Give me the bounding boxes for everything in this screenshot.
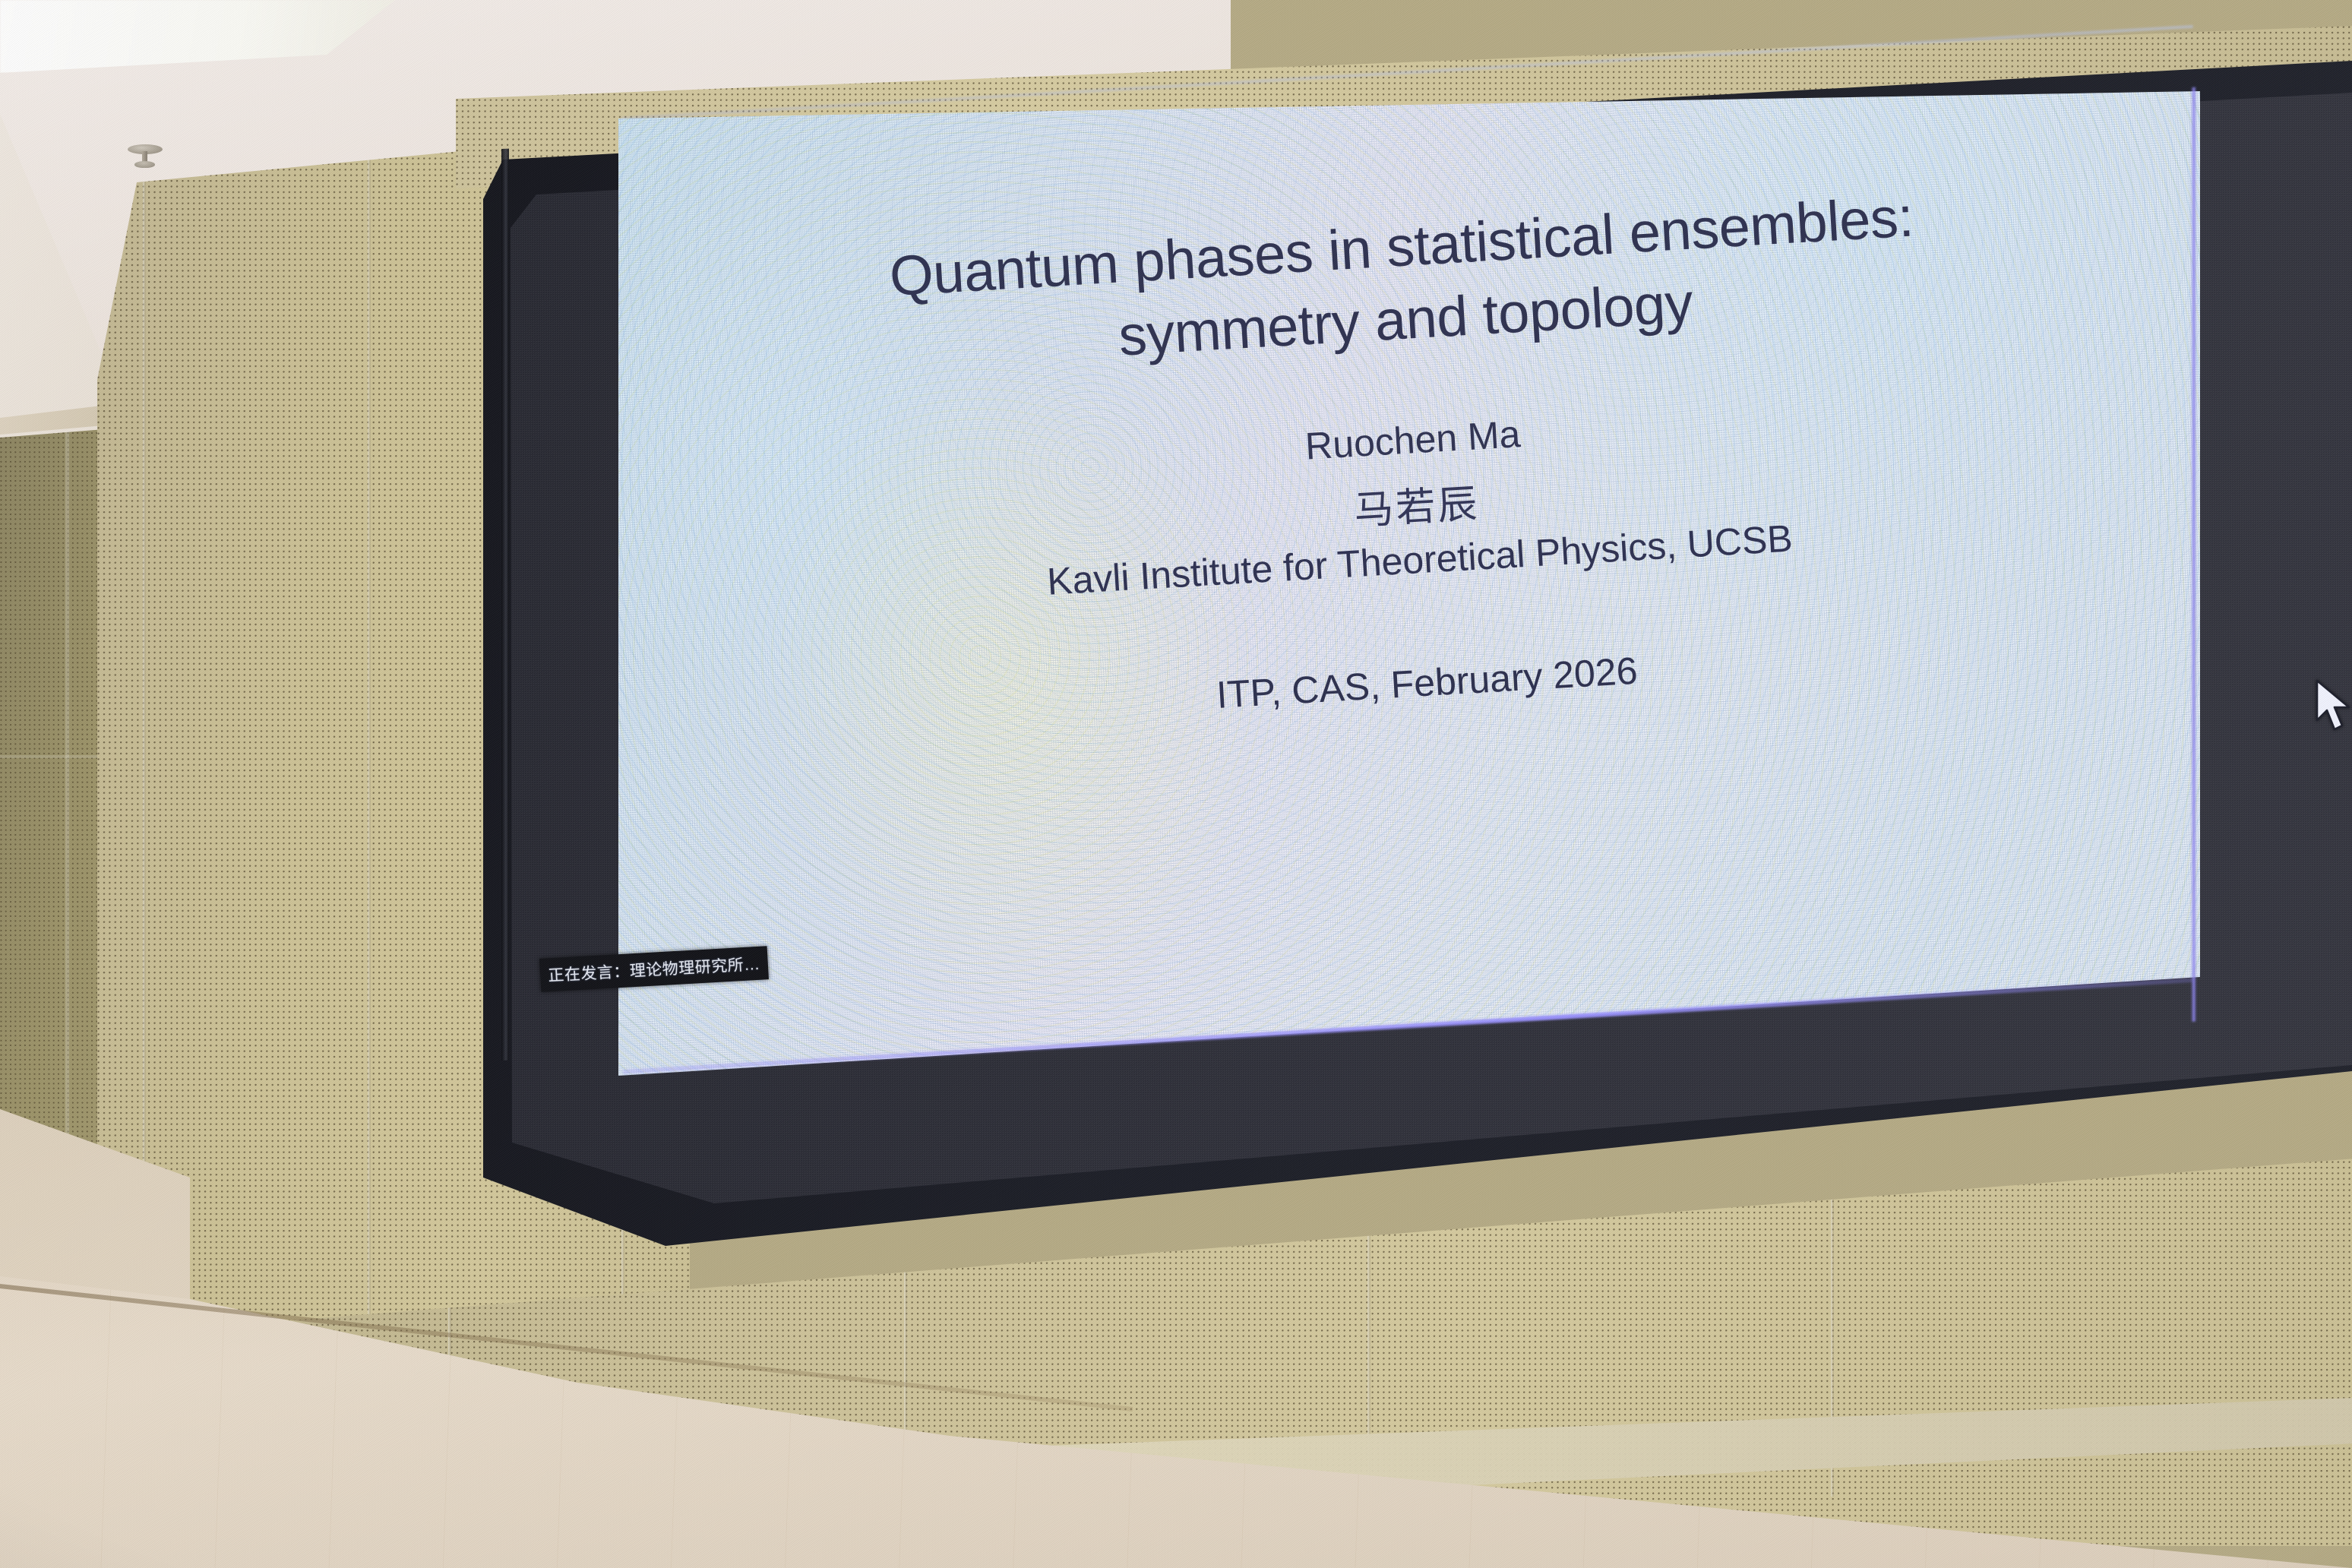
photo-scene: Quantum phases in statistical ensembles:… — [0, 0, 2352, 1568]
panel-seam — [368, 144, 371, 1436]
venue-and-date: ITP, CAS, February 2026 — [675, 617, 2179, 749]
slide-background: Quantum phases in statistical ensembles:… — [617, 91, 2200, 1076]
presentation-slide[interactable]: Quantum phases in statistical ensembles:… — [617, 91, 2200, 1076]
sprinkler-deflector — [134, 161, 155, 168]
ceiling-skylight — [0, 0, 395, 73]
slide-text-block: Quantum phases in statistical ensembles:… — [617, 91, 2200, 1076]
now-speaking-label: 正在发言：理论物理研究所… — [548, 952, 761, 987]
slide-title: Quantum phases in statistical ensembles:… — [649, 166, 2159, 400]
slide-edge-glow-right — [2191, 87, 2196, 1022]
bezel-left-edge — [501, 149, 509, 1061]
arrow-cursor-icon — [2314, 679, 2352, 734]
sprinkler-head-icon — [128, 144, 163, 173]
